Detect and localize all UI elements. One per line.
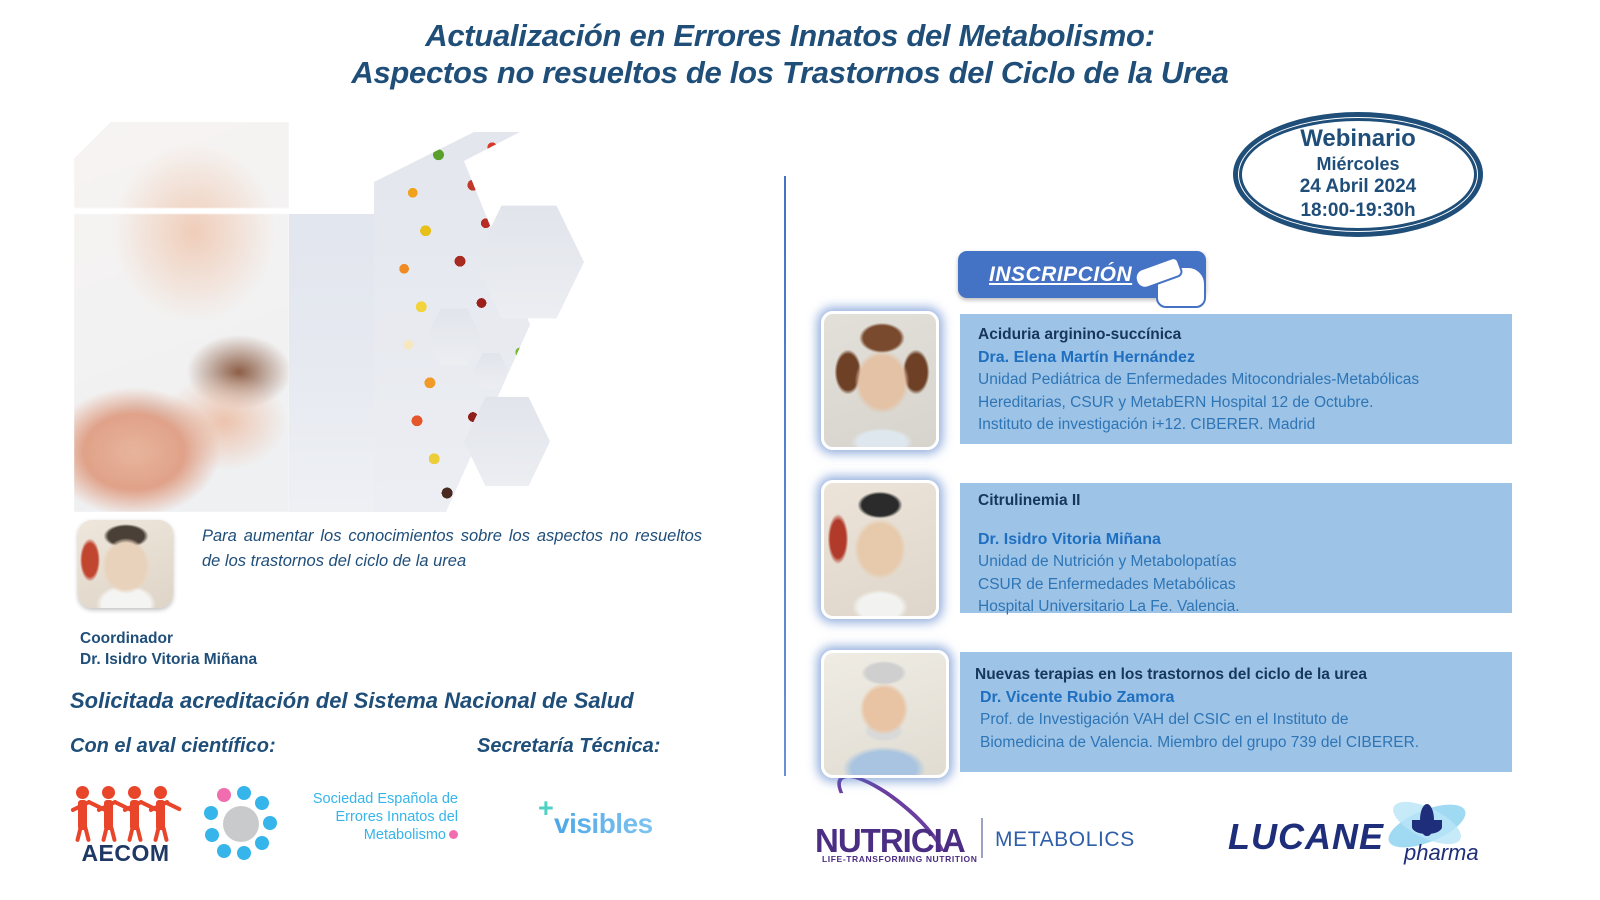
seeim-line-2: Errores Innatos del xyxy=(283,808,458,826)
lucane-logo: LUCANE pharma xyxy=(1228,798,1503,870)
speaker-topic: Nuevas terapias en los trastornos del ci… xyxy=(975,665,1507,686)
speaker-info: Aciduria arginino-succínica Dra. Elena M… xyxy=(978,325,1503,437)
speaker-affiliation-line: Biomedicina de Valencia. Miembro del gru… xyxy=(975,732,1507,754)
visibles-logo: + visibles xyxy=(538,800,668,840)
webinar-label: Webinario xyxy=(1300,126,1416,152)
speaker-affiliation-line: Instituto de investigación i+12. CIBERER… xyxy=(978,414,1503,436)
lucane-sub-wordmark: pharma xyxy=(1404,840,1479,866)
aecom-wordmark: AECOM xyxy=(68,840,183,867)
intro-description: Para aumentar los conocimientos sobre lo… xyxy=(202,524,702,574)
title-line-1: Actualización en Errores Innatos del Met… xyxy=(200,18,1380,55)
seeim-line-3: Metabolismo xyxy=(283,826,458,844)
speaker-info: Citrulinemia II Dr. Isidro Vitoria Miñan… xyxy=(978,483,1503,619)
secretariat-label: Secretaría Técnica: xyxy=(477,735,660,758)
speaker-topic: Citrulinemia II xyxy=(978,491,1503,512)
speaker-affiliation-line: Hospital Universitario La Fe. Valencia. xyxy=(978,596,1503,618)
speaker-info: Nuevas terapias en los trastornos del ci… xyxy=(975,665,1507,754)
nutricia-divider xyxy=(981,818,983,858)
coordinator-name: Dr. Isidro Vitoria Miñana xyxy=(80,651,257,669)
baby-feet-photo xyxy=(74,122,289,512)
speaker-affiliation-line: Prof. de Investigación VAH del CSIC en e… xyxy=(975,709,1507,731)
speaker-topic: Aciduria arginino-succínica xyxy=(978,325,1503,346)
seeim-line-1: Sociedad Española de xyxy=(283,790,458,808)
speaker-name: Dr. Vicente Rubio Zamora xyxy=(975,686,1507,709)
page-title: Actualización en Errores Innatos del Met… xyxy=(200,18,1380,91)
nutricia-logo: NUTRICIA LIFE-TRANSFORMING NUTRITION MET… xyxy=(815,800,1105,870)
visibles-wordmark: visibles xyxy=(554,808,653,840)
lucane-wordmark: LUCANE xyxy=(1228,816,1384,858)
webinar-date-badge: Webinario Miércoles 24 Abril 2024 18:00-… xyxy=(1233,112,1483,237)
nutricia-tagline: LIFE-TRANSFORMING NUTRITION xyxy=(822,854,978,864)
webinar-day: Miércoles xyxy=(1316,153,1399,176)
coordinator-avatar xyxy=(78,520,173,608)
webinar-poster: Actualización en Errores Innatos del Met… xyxy=(0,0,1600,900)
seeim-logo: Sociedad Española de Errores Innatos del… xyxy=(205,786,455,862)
webinar-time: 18:00-19:30h xyxy=(1300,199,1415,223)
endorsement-label: Con el aval científico: xyxy=(70,735,276,758)
speaker-affiliation-line: Hereditarias, CSUR y MetabERN Hospital 1… xyxy=(978,392,1503,414)
speaker-portrait xyxy=(821,311,939,450)
pointing-hand-cursor-icon xyxy=(1136,254,1210,306)
accreditation-text: Solicitada acreditación del Sistema Naci… xyxy=(70,688,634,714)
speaker-name: Dr. Isidro Vitoria Miñana xyxy=(978,528,1503,551)
seeim-wordmark: Sociedad Española de Errores Innatos del… xyxy=(283,790,458,844)
webinar-date: 24 Abril 2024 xyxy=(1300,175,1417,199)
aecom-logo: AECOM xyxy=(68,786,183,866)
speaker-portrait xyxy=(821,650,949,778)
coordinator-label: Coordinador xyxy=(80,630,173,648)
title-line-2: Aspectos no resueltos de los Trastornos … xyxy=(200,55,1380,92)
speaker-affiliation-line: CSUR de Enfermedades Metabólicas xyxy=(978,574,1503,596)
speaker-name: Dra. Elena Martín Hernández xyxy=(978,346,1503,369)
hero-collage-image xyxy=(74,122,664,512)
speaker-affiliation-line: Unidad Pediátrica de Enfermedades Mitoco… xyxy=(978,369,1503,391)
speaker-portrait xyxy=(821,480,939,619)
nutricia-division-label: METABOLICS xyxy=(995,828,1135,852)
seeim-ring-icon xyxy=(205,788,277,860)
vertical-divider xyxy=(784,176,786,776)
aecom-figures-icon xyxy=(68,786,183,838)
speaker-affiliation-line: Unidad de Nutrición y Metabolopatías xyxy=(978,551,1503,573)
registration-button-label: INSCRIPCIÓN xyxy=(989,263,1132,287)
